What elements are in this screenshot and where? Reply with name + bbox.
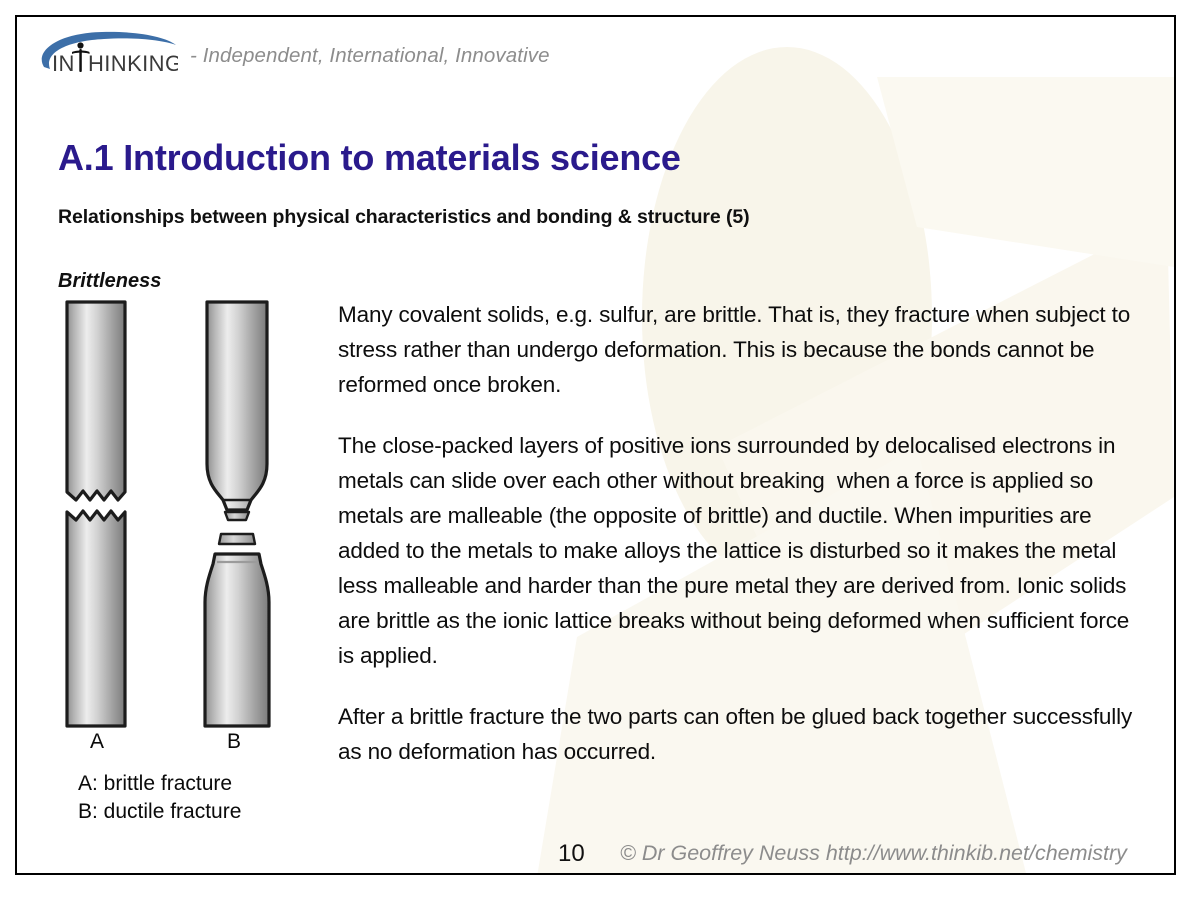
specimen-b-upper xyxy=(207,302,267,510)
copyright-notice[interactable]: © Dr Geoffrey Neuss http://www.thinkib.n… xyxy=(620,841,1127,866)
specimen-b-lower xyxy=(205,554,269,726)
specimen-b-upper-tip xyxy=(225,512,249,520)
figure-caption-line-b: B: ductile fracture xyxy=(78,798,241,826)
specimen-b-ductile xyxy=(205,302,269,726)
specimen-b-lower-cup xyxy=(219,534,255,544)
logo-graphic: IN HINKING xyxy=(30,29,178,79)
figure-label-b: B xyxy=(227,730,241,754)
figure-caption: A: brittle fracture B: ductile fracture xyxy=(78,770,241,826)
specimen-a-brittle xyxy=(67,302,125,726)
figure-letter-labels: A B xyxy=(55,730,320,760)
header: IN HINKING - Independent, International,… xyxy=(30,28,550,84)
slide: IN HINKING - Independent, International,… xyxy=(0,0,1194,897)
logo-wordmark-hinking: HINKING xyxy=(88,51,178,76)
logo-wordmark-in: IN xyxy=(52,51,75,76)
slide-subtitle: Relationships between physical character… xyxy=(58,206,750,229)
body-text: Many covalent solids, e.g. sulfur, are b… xyxy=(338,297,1150,795)
fracture-diagram-svg xyxy=(55,296,320,746)
body-paragraph-1: Many covalent solids, e.g. sulfur, are b… xyxy=(338,297,1150,402)
fracture-diagram xyxy=(55,296,320,746)
body-paragraph-2: The close-packed layers of positive ions… xyxy=(338,428,1150,673)
specimen-a-upper xyxy=(67,302,125,500)
figure-label-a: A xyxy=(90,730,104,754)
header-tagline: - Independent, International, Innovative xyxy=(190,44,550,68)
page-title: A.1 Introduction to materials science xyxy=(58,137,681,179)
section-heading: Brittleness xyxy=(58,270,161,293)
specimen-a-lower xyxy=(67,511,125,726)
inthinking-logo[interactable]: IN HINKING xyxy=(30,29,178,84)
body-paragraph-3: After a brittle fracture the two parts c… xyxy=(338,699,1150,769)
figure-caption-line-a: A: brittle fracture xyxy=(78,770,241,798)
page-number: 10 xyxy=(558,840,585,868)
